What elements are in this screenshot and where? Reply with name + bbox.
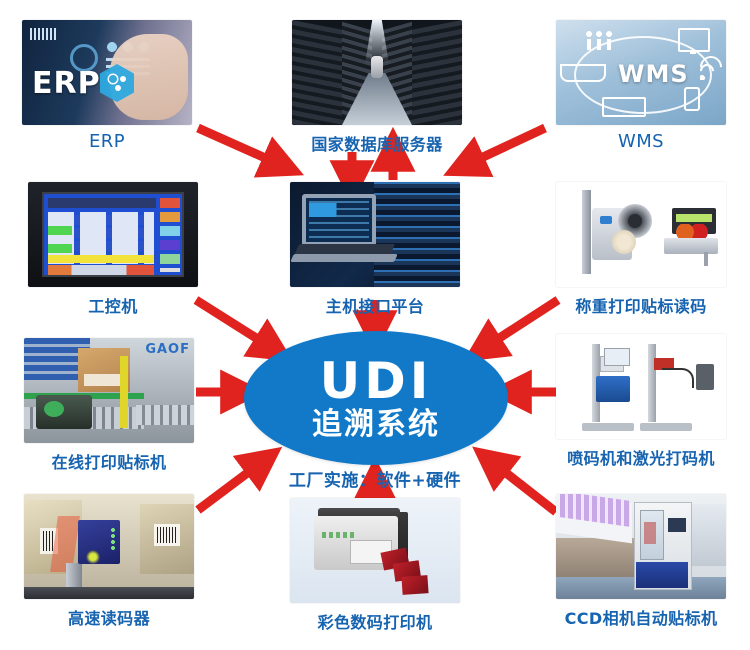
node-weigh-label[interactable]: 称重打印贴标读码 [556,182,726,317]
host-platform-thumbnail [290,182,460,287]
weigh-label-thumbnail [556,182,726,287]
arrow-hmi-to-center [196,300,272,348]
udi-sub-label: 追溯系统 [312,409,440,441]
node-color-printer[interactable]: 彩色数码打印机 [290,498,460,633]
arrow-weigh-to-center [484,300,558,348]
node-host-platform[interactable]: 主机接口平台 [290,182,460,317]
hmi-thumbnail [28,182,198,287]
conveyor-brand-text: GAOF [145,342,190,357]
node-coder[interactable]: 喷码机和激光打码机 [556,334,726,469]
node-hmi[interactable]: 工控机 [28,182,198,317]
node-label-weigh-label: 称重打印贴标读码 [575,293,706,317]
node-erp[interactable]: ERP ERP [22,20,192,152]
arrow-erp-to-db [198,128,281,165]
node-label-fast-reader: 高速读码器 [68,605,150,629]
node-fast-reader[interactable]: 高速读码器 [24,494,194,629]
color-printer-thumbnail [290,498,460,603]
diagram-canvas: ERP ERP 国家数据库服务器 WMS WMS [0,0,750,650]
inline-labeler-thumbnail: GAOF [24,338,194,443]
fast-reader-thumbnail [24,494,194,599]
node-label-host-platform: 主机接口平台 [326,293,424,317]
arrow-wms-to-db [466,128,545,165]
node-label-erp: ERP [89,131,125,152]
udi-center-node[interactable]: UDI 追溯系统 [244,331,508,465]
node-label-national-db: 国家数据库服务器 [311,131,442,155]
node-inline-labeler[interactable]: GAOF 在线打印贴标机 [24,338,194,473]
udi-main-label: UDI [320,356,433,406]
node-national-db[interactable]: 国家数据库服务器 [292,20,462,155]
erp-thumbnail: ERP [22,20,192,125]
node-label-ccd-labeler: CCD相机自动贴标机 [565,605,718,629]
node-ccd-labeler[interactable]: CCD相机自动贴标机 [556,494,726,629]
ccd-labeler-thumbnail [556,494,726,599]
udi-implementation-caption: 工厂实施：软件+硬件 [0,466,750,491]
node-label-wms: WMS [618,131,664,152]
node-label-hmi: 工控机 [88,293,137,317]
national-db-thumbnail [292,20,462,125]
coder-thumbnail [556,334,726,439]
node-label-color-printer: 彩色数码打印机 [318,609,433,633]
node-wms[interactable]: WMS WMS [556,20,726,152]
erp-overlay-text: ERP [32,66,101,101]
wms-thumbnail: WMS [556,20,726,125]
wms-overlay-text: WMS [618,60,689,88]
